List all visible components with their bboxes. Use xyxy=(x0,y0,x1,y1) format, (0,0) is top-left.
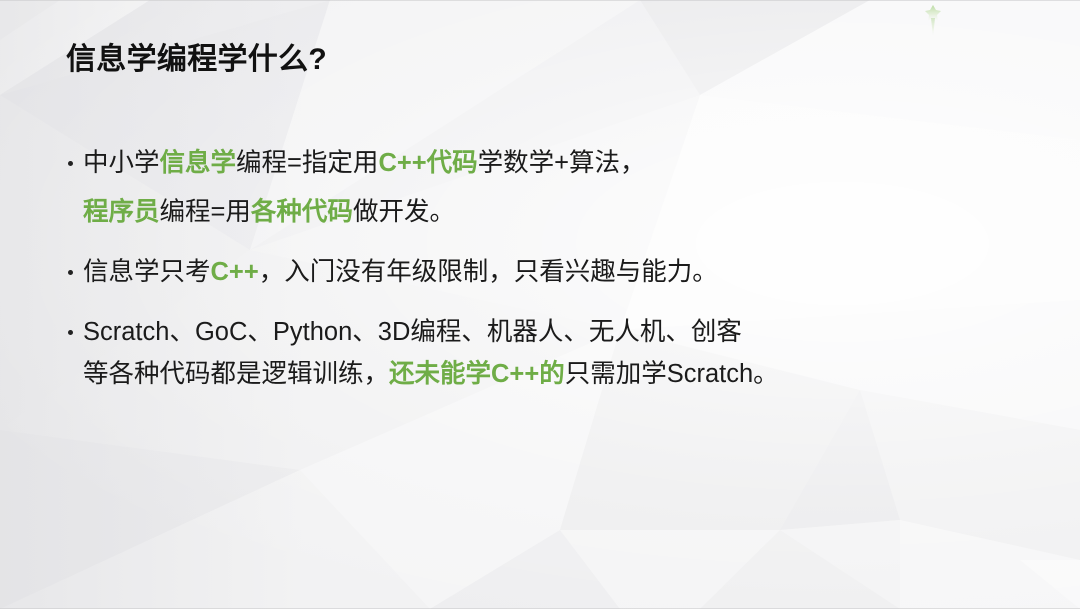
text-run: ，入门没有年级限制，只看兴趣与能力。 xyxy=(259,258,718,286)
bullet-dot-icon xyxy=(68,330,73,335)
text-run: 信息学只考 xyxy=(83,258,211,286)
bullet-text: 程序员编程=用各种代码做开发。 xyxy=(60,193,455,231)
bullet-dot-icon xyxy=(68,270,73,275)
text-run-highlight: 程序员 xyxy=(83,198,160,226)
text-run-highlight: C++代码 xyxy=(378,149,477,177)
text-run: 编程=指定用 xyxy=(236,149,378,177)
green-sparkle-icon xyxy=(922,4,944,38)
bullet-dot-icon xyxy=(68,161,73,166)
text-run: Scratch、GoC、Python、3D编程、机器人、无人机、创客 xyxy=(83,318,742,346)
text-run: 等各种代码都是逻辑训练， xyxy=(83,360,389,388)
text-run-highlight: 信息学 xyxy=(160,149,237,177)
text-run: 编程=用 xyxy=(160,198,251,226)
list-item: 中小学信息学编程=指定用C++代码学数学+算法， 程序员编程=用各种代码做开发。 xyxy=(60,144,1020,231)
bullet-line-continued: 等各种代码都是逻辑训练，还未能学C++的只需加学Scratch。 xyxy=(60,355,1020,393)
text-run: 只需加学Scratch。 xyxy=(565,360,779,388)
bullet-line: Scratch、GoC、Python、3D编程、机器人、无人机、创客 xyxy=(60,313,1020,351)
list-item: 信息学只考C++，入门没有年级限制，只看兴趣与能力。 xyxy=(60,253,1020,291)
text-run: 做开发。 xyxy=(353,198,455,226)
text-run-highlight: 各种代码 xyxy=(251,198,353,226)
slide-canvas: 信息学编程学什么? 中小学信息学编程=指定用C++代码学数学+算法， 程序员编程… xyxy=(0,0,1080,609)
slide-content: 信息学编程学什么? 中小学信息学编程=指定用C++代码学数学+算法， 程序员编程… xyxy=(0,0,1080,609)
bullet-text: 中小学信息学编程=指定用C++代码学数学+算法， xyxy=(60,144,646,182)
bullet-text: Scratch、GoC、Python、3D编程、机器人、无人机、创客 xyxy=(60,313,742,351)
bullet-line: 中小学信息学编程=指定用C++代码学数学+算法， xyxy=(60,144,1020,182)
bullet-line: 信息学只考C++，入门没有年级限制，只看兴趣与能力。 xyxy=(60,253,1020,291)
bullet-line-continued: 程序员编程=用各种代码做开发。 xyxy=(60,193,1020,231)
bullet-text: 信息学只考C++，入门没有年级限制，只看兴趣与能力。 xyxy=(60,253,718,291)
bullet-text: 等各种代码都是逻辑训练，还未能学C++的只需加学Scratch。 xyxy=(60,355,779,393)
bullet-list: 中小学信息学编程=指定用C++代码学数学+算法， 程序员编程=用各种代码做开发。… xyxy=(60,144,1020,393)
text-run-highlight: C++ xyxy=(211,258,259,286)
page-title: 信息学编程学什么? xyxy=(66,41,327,79)
text-run: 学数学+算法， xyxy=(478,149,646,177)
text-run-highlight: 还未能学C++的 xyxy=(389,360,565,388)
list-item: Scratch、GoC、Python、3D编程、机器人、无人机、创客 等各种代码… xyxy=(60,313,1020,393)
text-run: 中小学 xyxy=(83,149,160,177)
